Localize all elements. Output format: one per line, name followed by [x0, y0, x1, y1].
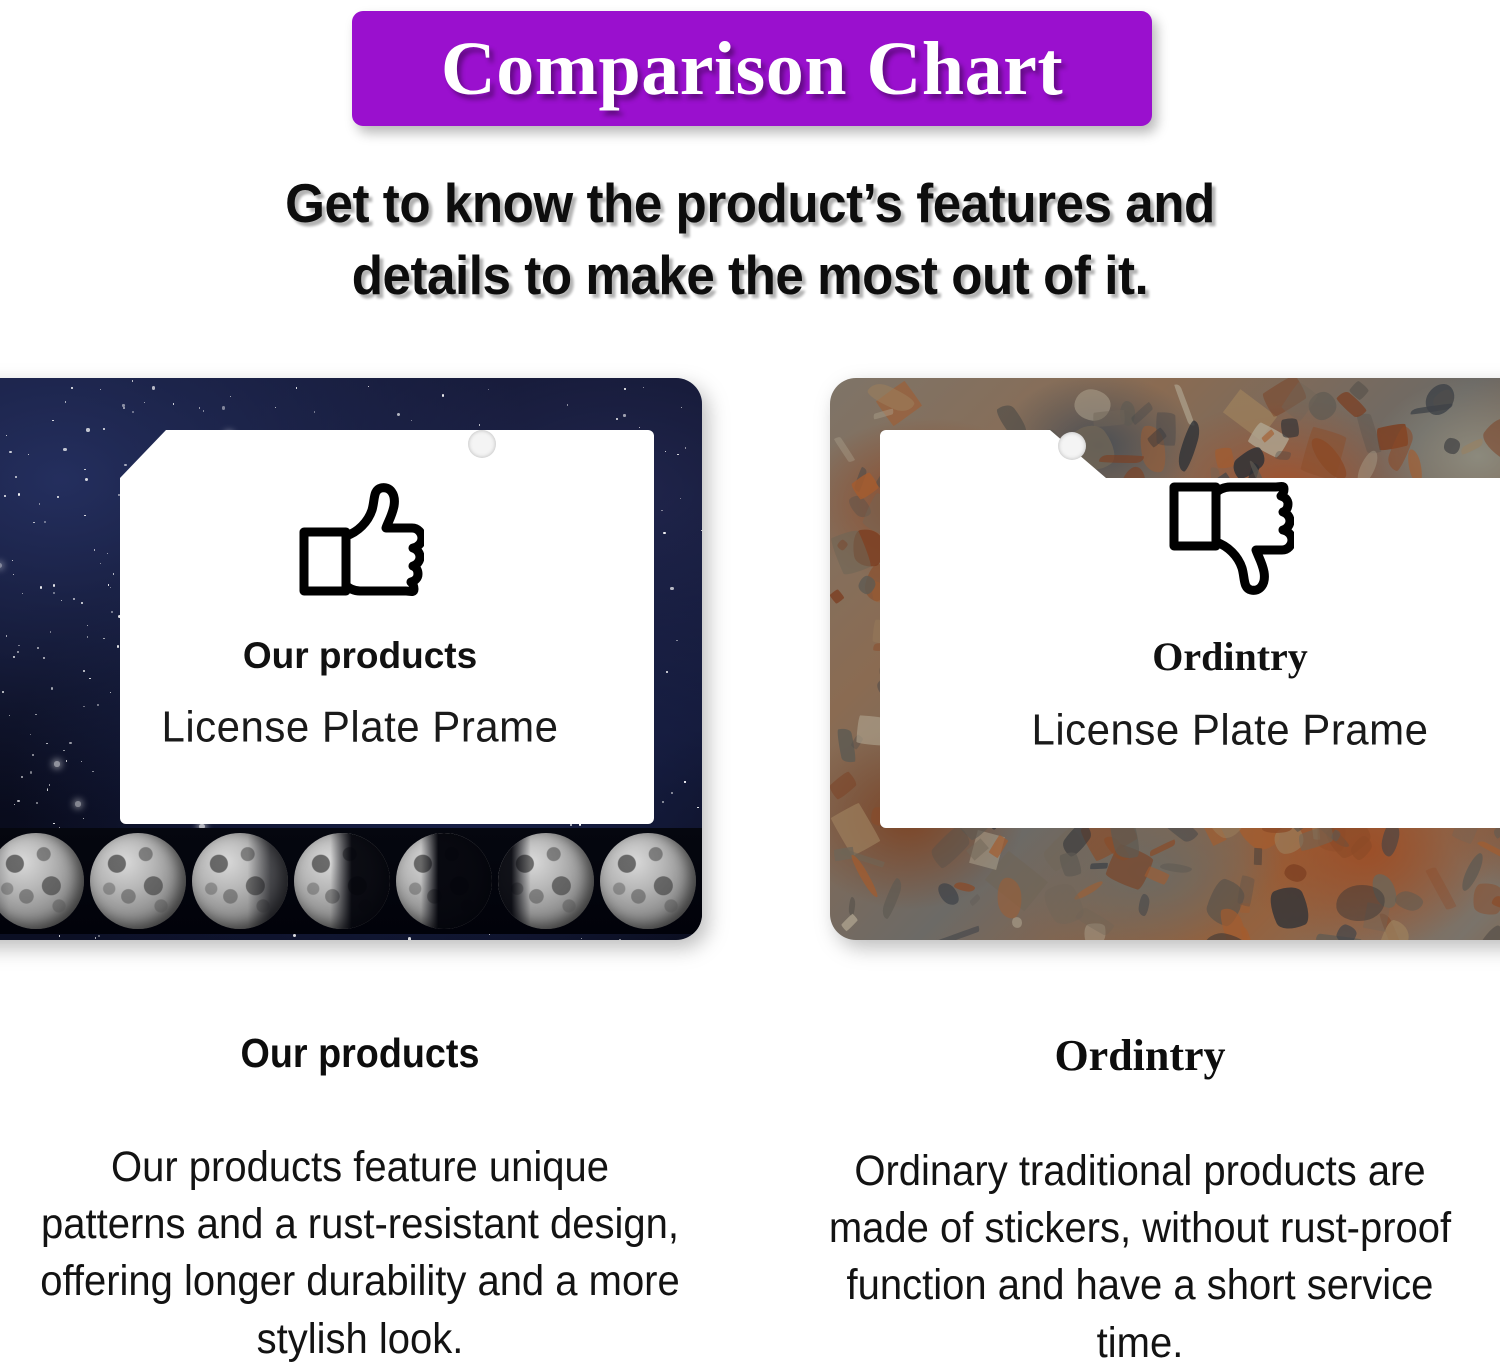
moon-phase-icon: [90, 833, 186, 929]
title-banner: Comparison Chart: [352, 11, 1152, 126]
frame-subheading-ours: License Plate Prame: [161, 702, 558, 752]
subtitle-line-1: Get to know the product’s features and: [53, 168, 1448, 240]
card-content-ours: Our products License Plate Prame: [30, 480, 690, 751]
subtitle-line-2: details to make the most out of it.: [53, 240, 1448, 312]
moon-phase-icon: [600, 833, 696, 929]
moon-phase-strip: [0, 828, 702, 934]
column-heading-ours: Our products: [38, 1030, 682, 1077]
moon-phase-icon: [396, 833, 492, 929]
thumbs-up-icon: [296, 480, 424, 603]
frame-heading-ours: Our products: [243, 635, 477, 677]
moon-phase-icon: [294, 833, 390, 929]
column-heading-ordinary: Ordintry: [790, 1030, 1490, 1081]
frame-subheading-ordinary: License Plate Prame: [1031, 705, 1428, 755]
moon-phase-icon: [192, 833, 288, 929]
thumbs-down-icon: [1166, 480, 1294, 603]
mounting-hole-icon: [1058, 432, 1086, 460]
column-body-ordinary: Ordinary traditional products are made o…: [815, 1143, 1466, 1372]
moon-phase-icon: [0, 833, 84, 929]
column-ordinary: Ordintry Ordinary traditional products a…: [790, 1030, 1490, 1372]
page-title: Comparison Chart: [441, 31, 1063, 107]
mounting-hole-icon: [468, 430, 496, 458]
column-body-ours: Our products feature unique patterns and…: [35, 1139, 686, 1368]
page-subtitle: Get to know the product’s features and d…: [53, 168, 1448, 311]
card-content-ordinary: Ordintry License Plate Prame: [910, 480, 1500, 754]
moon-phase-icon: [498, 833, 594, 929]
frame-heading-ordinary: Ordintry: [1152, 633, 1308, 680]
column-ours: Our products Our products feature unique…: [10, 1030, 710, 1368]
